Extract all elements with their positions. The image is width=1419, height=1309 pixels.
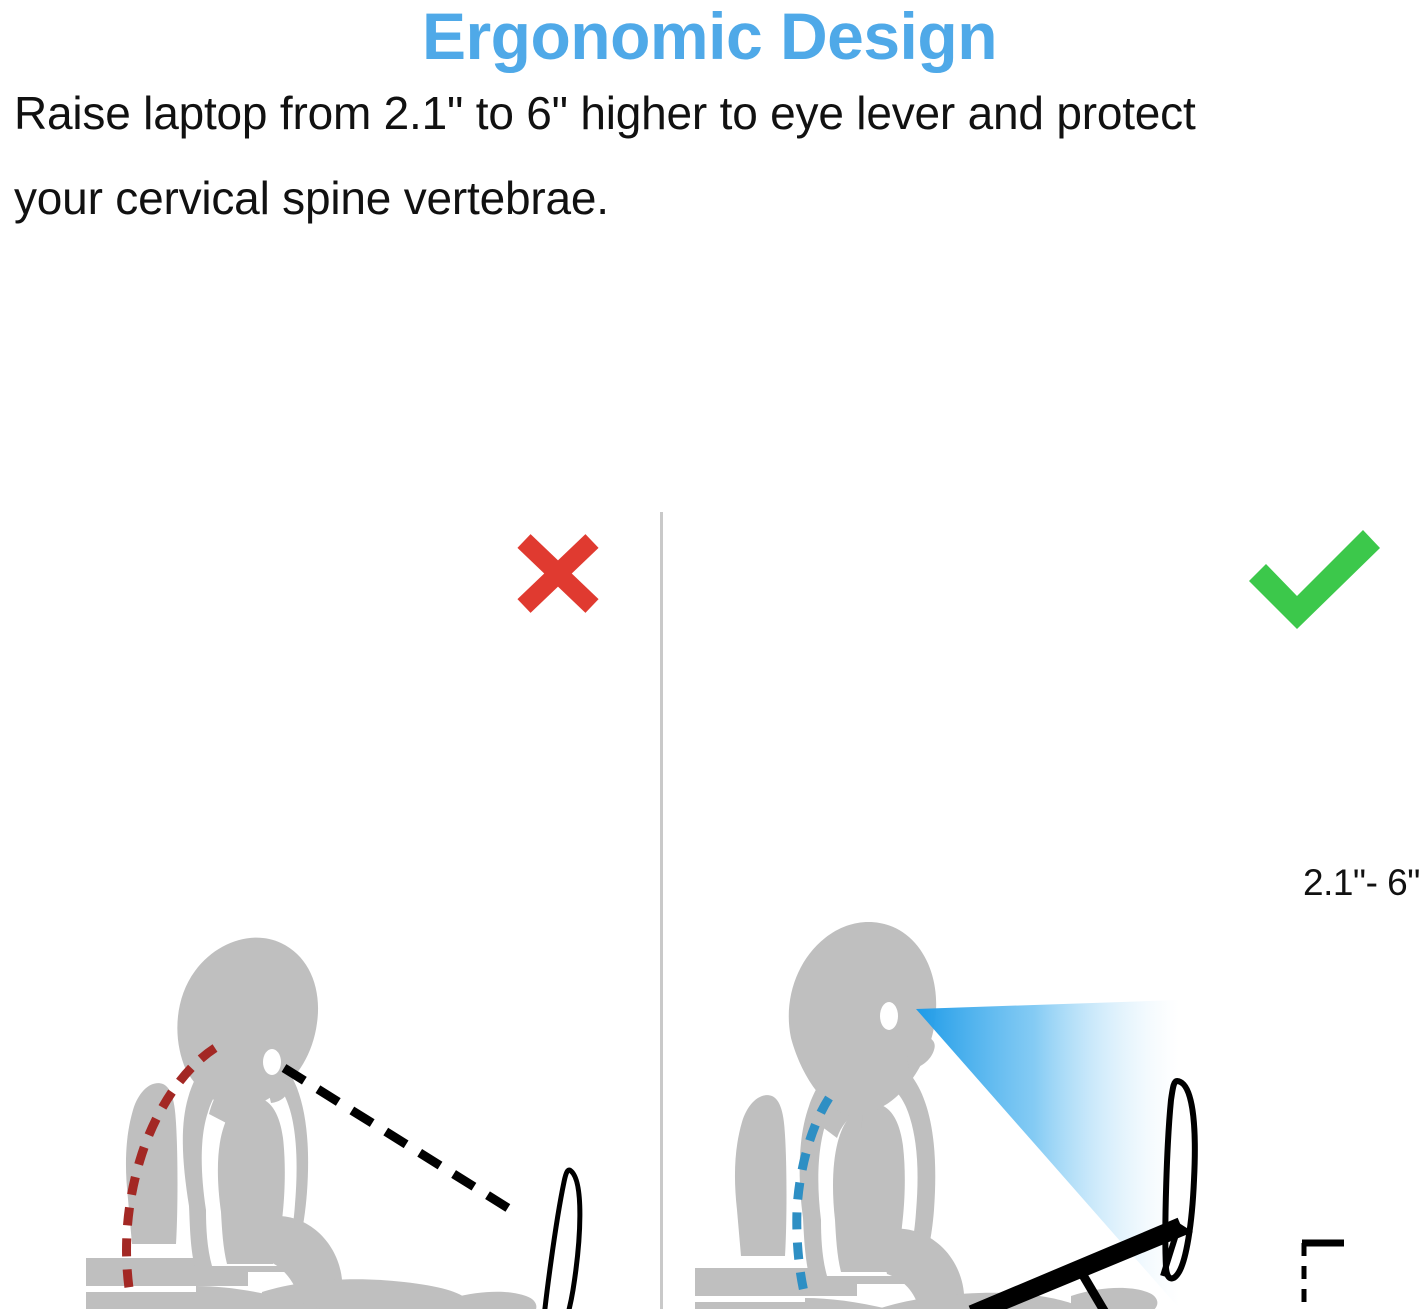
seated-person-figure [36,938,536,1309]
check-icon [1249,530,1380,629]
panel-bad-posture [0,420,661,1309]
sight-line-bad [284,1068,516,1213]
sight-cone [916,1000,1179,1308]
cross-icon [524,541,592,606]
subtitle-line-2: your cervical spine vertebrae. [14,156,1379,241]
subtitle-paragraph: Raise laptop from 2.1" to 6" higher to e… [0,71,1419,241]
illustration-area [0,420,1419,1309]
height-range-label: 2.1"- 6" [1303,862,1419,904]
header: Ergonomic Design Raise laptop from 2.1" … [0,0,1419,241]
subtitle-line-1: Raise laptop from 2.1" to 6" higher to e… [14,71,1379,156]
page-title: Ergonomic Design [0,0,1419,71]
height-dimension-indicator [1302,1243,1344,1309]
